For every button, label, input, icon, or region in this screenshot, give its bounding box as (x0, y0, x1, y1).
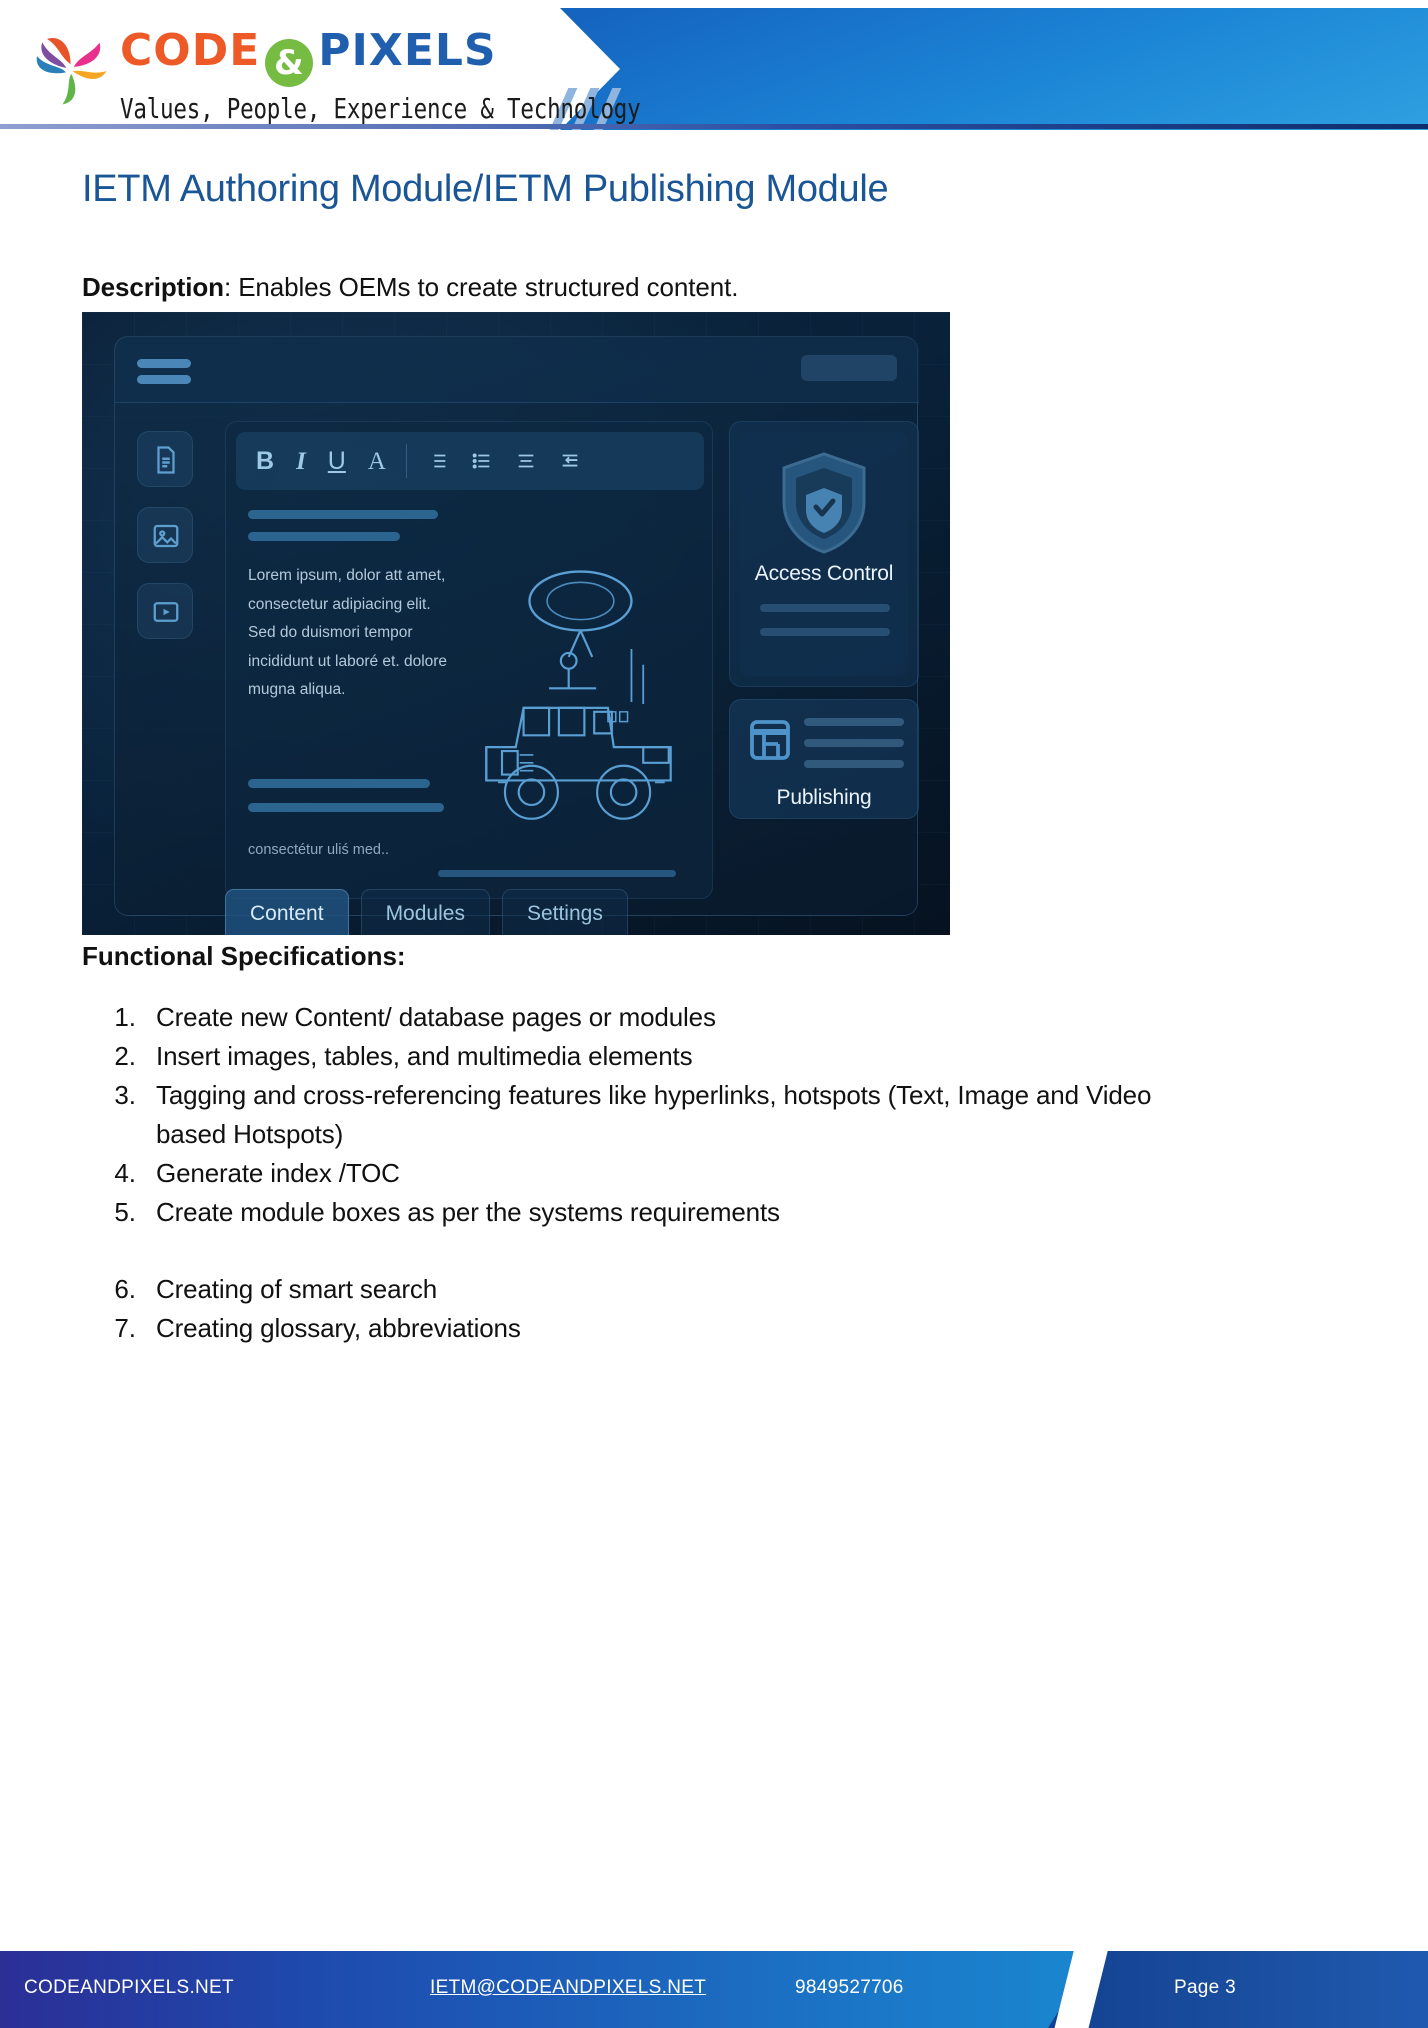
logo-ampersand-badge: & (265, 39, 313, 87)
list-item: 2. Insert images, tables, and multimedia… (110, 1037, 1160, 1076)
list-item-number: 1. (110, 998, 156, 1037)
indent-icon[interactable] (559, 450, 581, 472)
list-item-number: 4. (110, 1154, 156, 1193)
armored-vehicle-radar-icon (451, 552, 706, 852)
access-control-panel[interactable]: Access Control (729, 421, 919, 687)
tab-settings[interactable]: Settings (502, 889, 628, 935)
description-text: Enables OEMs to create structured conten… (238, 272, 738, 302)
list-item-text: Insert images, tables, and multimedia el… (156, 1037, 1160, 1076)
list-item-text: Create new Content/ database pages or mo… (156, 998, 1160, 1037)
logo-pixels-text: PIXELS (318, 25, 496, 76)
description-label: Description (82, 272, 224, 302)
text-color-button[interactable]: A (368, 449, 386, 474)
document-page: CODE&PIXELS Values, People, Experience &… (0, 0, 1428, 2028)
list-item: 4. Generate index /TOC (110, 1154, 1160, 1193)
layout-grid-icon (746, 716, 794, 764)
publishing-placeholder-lines (804, 718, 904, 781)
tab-content[interactable]: Content (225, 889, 349, 935)
list-item-text: Tagging and cross-referencing features l… (156, 1076, 1160, 1154)
logo-wordmark: CODE&PIXELS (120, 26, 520, 87)
list-item: 5. Create module boxes as per the system… (110, 1193, 1160, 1232)
list-spacer (110, 1232, 1160, 1270)
list-item: 7. Creating glossary, abbreviations (110, 1309, 1160, 1348)
placeholder-line (248, 803, 444, 812)
logo-code-text: CODE (120, 25, 260, 76)
publishing-panel[interactable]: Publishing (729, 699, 919, 819)
access-control-label: Access Control (730, 562, 918, 586)
align-icon[interactable] (515, 450, 537, 472)
bulleted-list-icon[interactable] (471, 450, 493, 472)
description-separator: : (224, 272, 238, 302)
document-icon (151, 445, 181, 475)
list-item-text: Generate index /TOC (156, 1154, 1160, 1193)
list-item-number: 6. (110, 1270, 156, 1309)
image-tool[interactable] (137, 507, 193, 563)
publishing-label: Publishing (730, 786, 918, 810)
description-paragraph: Description: Enables OEMs to create stru… (82, 272, 1282, 303)
placeholder-line (438, 870, 676, 877)
numbered-list-icon[interactable] (427, 450, 449, 472)
app-window-mock: B I U A (114, 336, 918, 916)
placeholder-line (248, 510, 438, 519)
footer-page-number: Page 3 (1174, 1977, 1236, 1999)
image-icon (151, 521, 181, 551)
logo-tagline: Values, People, Experience & Technology (120, 91, 520, 128)
list-item: 3. Tagging and cross-referencing feature… (110, 1076, 1160, 1154)
editor-pane: B I U A (225, 421, 713, 899)
editor-body-text: Lorem ipsum, dolor att amet, consectetur… (248, 562, 448, 705)
page-footer: CODEANDPIXELS.NET IETM@CODEANDPIXELS.NET… (0, 1951, 1428, 2028)
panel-placeholder-line (760, 628, 890, 636)
list-item-text: Create module boxes as per the systems r… (156, 1193, 1160, 1232)
app-titlebar (115, 337, 919, 403)
list-item-number: 5. (110, 1193, 156, 1232)
list-item-number: 7. (110, 1309, 156, 1348)
brand-logo: CODE&PIXELS Values, People, Experience &… (22, 22, 532, 118)
product-screenshot: B I U A (82, 312, 950, 935)
list-item-number: 3. (110, 1076, 156, 1154)
list-item: 6. Creating of smart search (110, 1270, 1160, 1309)
page-title: IETM Authoring Module/IETM Publishing Mo… (82, 168, 1282, 211)
list-item: 1. Create new Content/ database pages or… (110, 998, 1160, 1037)
list-item-text: Creating of smart search (156, 1270, 1160, 1309)
panel-placeholder-line (760, 604, 890, 612)
italic-button[interactable]: I (296, 449, 306, 474)
pinwheel-logo-icon (24, 24, 116, 116)
left-tool-rail (115, 403, 217, 917)
page-header: CODE&PIXELS Values, People, Experience &… (0, 8, 1428, 130)
bottom-tab-bar: Content Modules Settings (225, 889, 715, 935)
functional-specs-title: Functional Specifications: (82, 941, 406, 972)
placeholder-line (248, 779, 430, 788)
list-item-number: 2. (110, 1037, 156, 1076)
bold-button[interactable]: B (256, 449, 274, 474)
shield-check-icon (776, 448, 872, 558)
formatting-toolbar: B I U A (236, 432, 704, 490)
tab-modules[interactable]: Modules (361, 889, 490, 935)
footer-email-link[interactable]: IETM@CODEANDPIXELS.NET (430, 1977, 706, 1999)
underline-button[interactable]: U (328, 449, 346, 474)
document-tool[interactable] (137, 431, 193, 487)
title-pill (801, 355, 897, 381)
video-icon (151, 597, 181, 627)
header-divider (0, 124, 1428, 129)
hamburger-menu-icon[interactable] (137, 359, 191, 385)
list-item-text: Creating glossary, abbreviations (156, 1309, 1160, 1348)
video-tool[interactable] (137, 583, 193, 639)
footer-website[interactable]: CODEANDPIXELS.NET (24, 1977, 234, 1999)
footer-phone: 9849527706 (795, 1977, 904, 1999)
functional-specs-list: 1. Create new Content/ database pages or… (110, 998, 1160, 1348)
placeholder-line (248, 532, 400, 541)
